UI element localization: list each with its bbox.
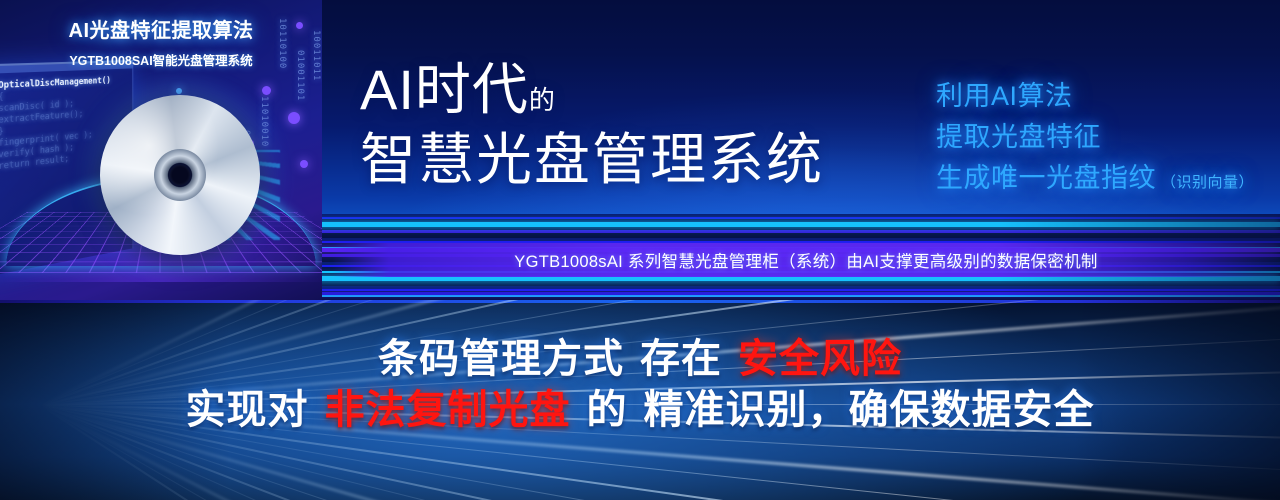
bottom-line-1-part1: 条码管理方式 bbox=[378, 337, 624, 381]
feature-item-2: 提取光盘特征 bbox=[936, 117, 1254, 158]
bottom-line-1: 条码管理方式存在安全风险 bbox=[0, 334, 1280, 385]
headline-group: AI时代的 智慧光盘管理系统 bbox=[360, 62, 824, 188]
promo-banner: 10110100 01001101 11010010 00110110 1001… bbox=[0, 0, 1280, 500]
optical-disc-icon bbox=[100, 95, 260, 255]
bottom-line-2-highlight: 非法复制光盘 bbox=[325, 388, 571, 432]
feature-item-2-text: 提取光盘特征 bbox=[936, 122, 1101, 152]
subtitle-strip: YGTB1008sAI 系列智慧光盘管理柜（系统）由AI支撑更高级别的数据保密机… bbox=[332, 243, 1280, 277]
panel-heading-group: AI光盘特征提取算法 YGTB1008SAI智能光盘管理系统 bbox=[0, 14, 322, 69]
top-section: 10110100 01001101 11010010 00110110 1001… bbox=[0, 0, 1280, 300]
feature-item-3: 生成唯一光盘指纹（识别向量） bbox=[936, 158, 1254, 199]
decor-dot-2 bbox=[262, 86, 271, 95]
bottom-line-1-part2: 存在 bbox=[640, 337, 722, 381]
headline-line-2: 智慧光盘管理系统 bbox=[360, 132, 824, 188]
headline-line-1-suffix: 的 bbox=[529, 85, 556, 115]
disc-center-hole bbox=[170, 165, 190, 185]
headline-line-1: AI时代的 bbox=[360, 62, 824, 118]
feature-item-1-text: 利用AI算法 bbox=[936, 81, 1073, 111]
subtitle-strip-text: YGTB1008sAI 系列智慧光盘管理柜（系统）由AI支撑更高级别的数据保密机… bbox=[514, 248, 1097, 272]
bottom-line-1-highlight: 安全风险 bbox=[738, 337, 902, 381]
bottom-line-2: 实现对非法复制光盘的精准识别，确保数据安全 bbox=[0, 385, 1280, 436]
product-image-panel: 10110100 01001101 11010010 00110110 1001… bbox=[0, 0, 322, 300]
decor-dot-5 bbox=[300, 160, 308, 168]
panel-subtitle: YGTB1008SAI智能光盘管理系统 bbox=[0, 50, 322, 69]
feature-item-1: 利用AI算法 bbox=[936, 76, 1254, 117]
bottom-copy-group: 条码管理方式存在安全风险 实现对非法复制光盘的精准识别，确保数据安全 bbox=[0, 334, 1280, 436]
feature-item-3-text: 生成唯一光盘指纹 bbox=[936, 163, 1156, 193]
feature-list: 利用AI算法 提取光盘特征 生成唯一光盘指纹（识别向量） bbox=[936, 76, 1254, 199]
decor-dot-6 bbox=[176, 88, 182, 94]
bottom-line-2-part3: 精准识别，确保数据安全 bbox=[644, 388, 1095, 432]
bottom-line-2-part2: 的 bbox=[587, 388, 628, 432]
bottom-line-2-part1: 实现对 bbox=[186, 388, 309, 432]
binary-decor-2: 01001101 bbox=[294, 50, 305, 220]
panel-title: AI光盘特征提取算法 bbox=[0, 14, 322, 43]
feature-item-3-note: （识别向量） bbox=[1161, 174, 1254, 191]
headline-line-1-main: AI时代 bbox=[360, 58, 529, 121]
decor-dot-3 bbox=[288, 112, 300, 124]
